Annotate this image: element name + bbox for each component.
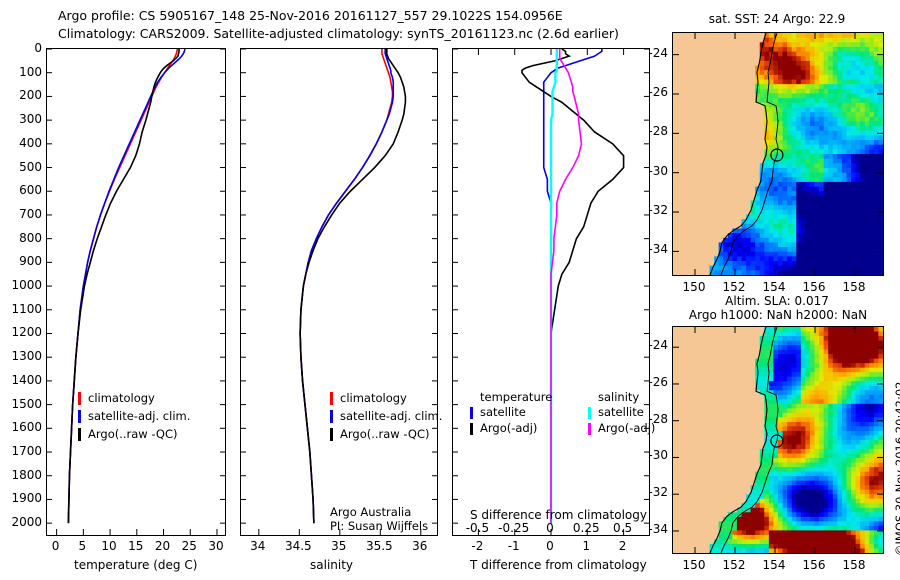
depth-tick-label: 1400	[2, 373, 42, 387]
sst-map-panel	[672, 32, 884, 276]
map-x-tick-label: 156	[792, 280, 836, 294]
map-y-tick-label: -30	[628, 448, 668, 462]
difference-plot	[453, 49, 649, 535]
map-y-tick-label: -34	[628, 522, 668, 536]
map-x-tick-label: 152	[712, 558, 756, 572]
axis-tick-label: 35.5	[357, 539, 401, 553]
salinity-plot	[241, 49, 437, 535]
map-y-tick-label: -28	[628, 124, 668, 138]
depth-tick-label: 1300	[2, 349, 42, 363]
map-x-tick-label: 154	[752, 280, 796, 294]
legend-swatch-temperature-satellite	[470, 407, 473, 419]
attribution-line2: PI: Susan Wijffels	[330, 519, 428, 533]
legend-swatch-salinity-argo	[588, 423, 591, 435]
map-y-tick-label: -34	[628, 242, 668, 256]
legend-label-climatology: climatology	[340, 391, 407, 405]
depth-tick-label: 2000	[2, 515, 42, 529]
sla-map-panel	[672, 326, 884, 554]
depth-tick-label: 1700	[2, 444, 42, 458]
depth-tick-label: 200	[2, 88, 42, 102]
legend-swatch-argo	[78, 428, 81, 441]
legend-swatch-climatology	[78, 392, 81, 405]
sla-map-image	[673, 327, 883, 553]
legend-header-salinity: salinity	[598, 390, 639, 404]
temperature-plot	[47, 49, 225, 535]
map-y-tick-label: -32	[628, 203, 668, 217]
legend-swatch-satellite-adj	[330, 410, 333, 423]
depth-tick-label: 1800	[2, 468, 42, 482]
temperature-panel	[46, 48, 226, 536]
salinity-axis-label: salinity	[310, 558, 353, 572]
axis-tick-label: 36	[398, 539, 442, 553]
legend-label-argo: Argo(..raw -QC)	[340, 427, 430, 441]
map-y-tick-label: -32	[628, 485, 668, 499]
salinity-panel	[240, 48, 438, 536]
depth-tick-label: 1500	[2, 397, 42, 411]
map-y-tick-label: -26	[628, 85, 668, 99]
depth-tick-label: 1600	[2, 420, 42, 434]
axis-tick-label: 2	[601, 539, 645, 553]
map-y-tick-label: -26	[628, 375, 668, 389]
legend-swatch-satellite-adj	[78, 410, 81, 423]
depth-tick-label: 600	[2, 183, 42, 197]
legend-label-satellite-adj: satellite-adj. clim.	[340, 409, 442, 423]
depth-tick-label: 100	[2, 65, 42, 79]
map-y-tick-label: -28	[628, 412, 668, 426]
map-y-tick-label: -30	[628, 164, 668, 178]
legend-swatch-argo	[330, 428, 333, 441]
legend-swatch-climatology	[330, 392, 333, 405]
map-x-tick-label: 158	[832, 558, 876, 572]
page-title-line2: Climatology: CARS2009. Satellite-adjuste…	[58, 26, 619, 41]
depth-tick-label: 1900	[2, 491, 42, 505]
map-x-tick-label: 152	[712, 280, 756, 294]
legend-label-satellite-adj: satellite-adj. clim.	[88, 409, 190, 423]
map-x-tick-label: 158	[832, 280, 876, 294]
axis-tick-label: 34.5	[276, 539, 320, 553]
attribution-line1: Argo Australia	[330, 505, 411, 519]
difference-top-axis-label: S difference from climatology	[470, 508, 647, 522]
legend-header-temperature: temperature	[480, 390, 552, 404]
difference-panel	[452, 48, 650, 536]
depth-tick-label: 500	[2, 160, 42, 174]
legend-label-climatology: climatology	[88, 391, 155, 405]
legend-label-temperature-satellite: satellite	[480, 405, 526, 419]
legend-swatch-temperature-argo	[470, 423, 473, 435]
sla-map-title: Altim. SLA: 0.017	[672, 294, 882, 308]
axis-tick-label: 30	[194, 539, 238, 553]
page-title-line1: Argo profile: CS 5905167_148 25-Nov-2016…	[58, 8, 563, 23]
axis-tick-label: 34	[236, 539, 280, 553]
map-x-tick-label: 156	[792, 558, 836, 572]
axis-tick-label: 35	[317, 539, 361, 553]
depth-tick-label: 300	[2, 112, 42, 126]
depth-tick-label: 1000	[2, 278, 42, 292]
depth-tick-label: 0	[2, 41, 42, 55]
temperature-axis-label: temperature (deg C)	[74, 558, 197, 572]
map-x-tick-label: 150	[672, 280, 716, 294]
depth-tick-label: 1200	[2, 325, 42, 339]
legend-label-temperature-argo: Argo(-adj)	[480, 421, 537, 435]
depth-tick-label: 700	[2, 207, 42, 221]
sst-map-title: sat. SST: 24 Argo: 22.9	[672, 12, 882, 26]
depth-tick-label: 400	[2, 136, 42, 150]
legend-swatch-salinity-satellite	[588, 407, 591, 419]
legend-label-argo: Argo(..raw -QC)	[88, 427, 178, 441]
depth-tick-label: 800	[2, 231, 42, 245]
imos-credit: ©IMOS 30-Nov-2016 20:42:02	[893, 382, 900, 556]
sst-map-image	[673, 33, 883, 275]
depth-tick-label: 1100	[2, 302, 42, 316]
depth-tick-label: 900	[2, 254, 42, 268]
map-x-tick-label: 150	[672, 558, 716, 572]
sla-map-subtitle: Argo h1000: NaN h2000: NaN	[660, 308, 896, 322]
difference-bottom-axis-label: T difference from climatology	[470, 558, 647, 572]
map-x-tick-label: 154	[752, 558, 796, 572]
map-y-tick-label: -24	[628, 338, 668, 352]
map-y-tick-label: -24	[628, 46, 668, 60]
